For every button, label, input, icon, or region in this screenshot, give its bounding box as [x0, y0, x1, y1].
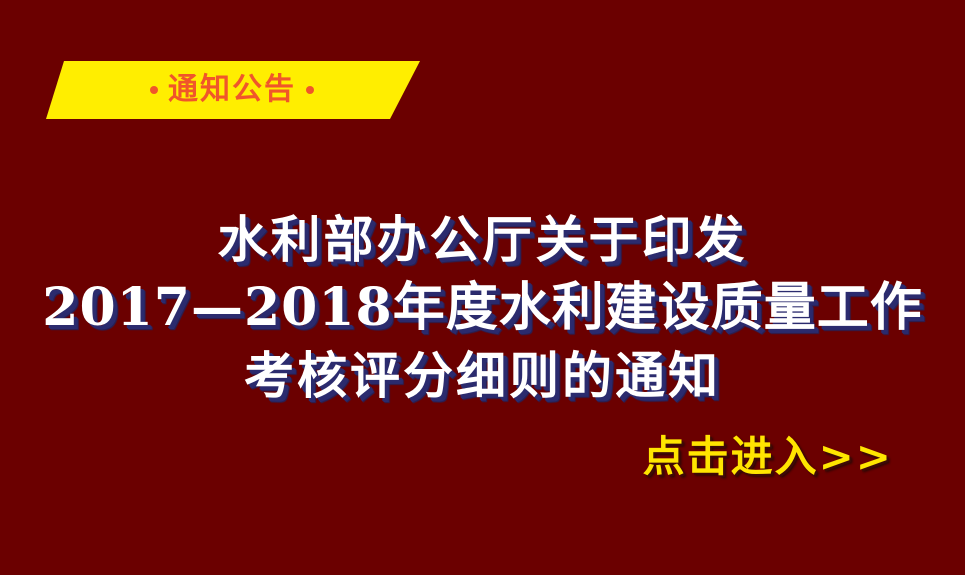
banner-left-dot-icon: [150, 86, 158, 94]
banner-right-dot-icon: [306, 86, 314, 94]
banner-label-group: 通知公告: [38, 61, 420, 119]
title-line-3: 考核评分细则的通知: [0, 342, 965, 410]
enter-link[interactable]: 点击进入>>: [0, 432, 965, 482]
banner-title-text: 通知公告: [168, 75, 296, 105]
announcement-title-block: 水利部办公厅关于印发 2017—2018年度水利建设质量工作 考核评分细则的通知: [0, 206, 965, 410]
announcement-banner: 通知公告: [38, 61, 420, 119]
title-line-2: 2017—2018年度水利建设质量工作: [0, 274, 965, 342]
title-line-1: 水利部办公厅关于印发: [0, 206, 965, 274]
